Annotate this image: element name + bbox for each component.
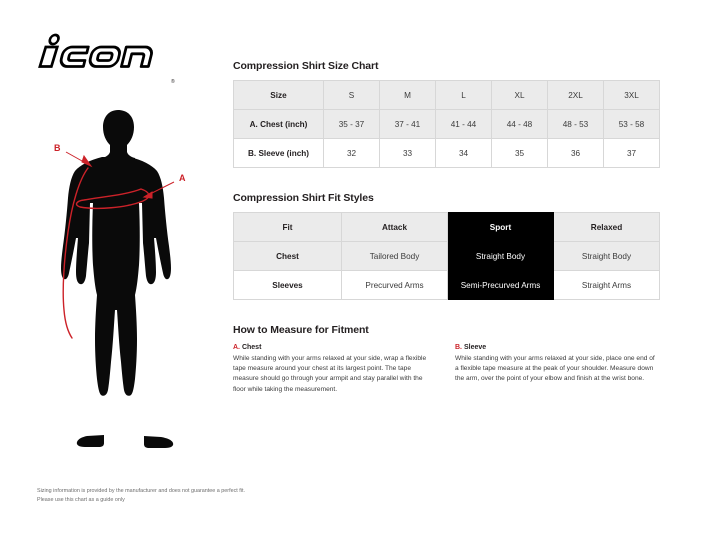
cell-chest-2xl: 48 - 53 xyxy=(548,110,604,139)
cell-sleeve-3xl: 37 xyxy=(604,139,660,168)
measure-sleeve-name: Sleeve xyxy=(464,344,486,351)
column-header-s: S xyxy=(324,81,380,110)
cell-sleeve-l: 34 xyxy=(436,139,492,168)
size-chart-table: Size S M L XL 2XL 3XL A. Chest (inch) 35… xyxy=(233,80,660,168)
cell-chest-xl: 44 - 48 xyxy=(492,110,548,139)
table-row: Sleeves Precurved Arms Semi-Precurved Ar… xyxy=(234,271,660,300)
column-header-relaxed: Relaxed xyxy=(554,213,660,242)
disclaimer-line-2: Please use this chart as a guide only xyxy=(37,496,367,505)
table-header-row: Size S M L XL 2XL 3XL xyxy=(234,81,660,110)
cell-chest-m: 37 - 41 xyxy=(380,110,436,139)
column-header-sport: Sport xyxy=(448,213,554,242)
column-header-m: M xyxy=(380,81,436,110)
disclaimer-line-1: Sizing information is provided by the ma… xyxy=(37,487,367,496)
measure-chest-mark: A. xyxy=(233,344,240,351)
cell-chest-attack: Tailored Body xyxy=(342,242,448,271)
size-chart-title: Compression Shirt Size Chart xyxy=(233,60,659,72)
cell-chest-sport: Straight Body xyxy=(448,242,554,271)
measure-instructions: A. Chest While standing with your arms r… xyxy=(233,344,659,395)
column-header-xl: XL xyxy=(492,81,548,110)
table-row: B. Sleeve (inch) 32 33 34 35 36 37 xyxy=(234,139,660,168)
measure-chest-text: While standing with your arms relaxed at… xyxy=(233,354,437,395)
fit-styles-title: Compression Shirt Fit Styles xyxy=(233,192,659,204)
measure-sleeve-heading: B. Sleeve xyxy=(455,344,659,351)
cell-chest-relaxed: Straight Body xyxy=(554,242,660,271)
cell-sleeves-attack: Precurved Arms xyxy=(342,271,448,300)
measure-chest-heading: A. Chest xyxy=(233,344,437,351)
figure-label-a: A xyxy=(179,173,186,183)
body-measurement-diagram: A B xyxy=(40,100,230,460)
cell-chest-l: 41 - 44 xyxy=(436,110,492,139)
measure-chest-name: Chest xyxy=(242,344,261,351)
measure-item-chest: A. Chest While standing with your arms r… xyxy=(233,344,437,395)
row-header-chest: Chest xyxy=(234,242,342,271)
icon-wordmark-icon xyxy=(30,28,190,72)
column-header-fit: Fit xyxy=(234,213,342,242)
fit-styles-table: Fit Attack Sport Relaxed Chest Tailored … xyxy=(233,212,660,300)
brand-logo: ® xyxy=(30,28,190,72)
column-header-l: L xyxy=(436,81,492,110)
male-silhouette-icon xyxy=(61,110,173,448)
cell-sleeve-xl: 35 xyxy=(492,139,548,168)
cell-sleeve-m: 33 xyxy=(380,139,436,168)
measure-sleeve-text: While standing with your arms relaxed at… xyxy=(455,354,659,385)
column-header-2xl: 2XL xyxy=(548,81,604,110)
how-to-measure-title: How to Measure for Fitment xyxy=(233,324,659,336)
column-header-attack: Attack xyxy=(342,213,448,242)
disclaimer: Sizing information is provided by the ma… xyxy=(37,487,367,506)
cell-sleeves-relaxed: Straight Arms xyxy=(554,271,660,300)
cell-sleeve-s: 32 xyxy=(324,139,380,168)
column-header-3xl: 3XL xyxy=(604,81,660,110)
table-header-row: Fit Attack Sport Relaxed xyxy=(234,213,660,242)
measure-item-sleeve: B. Sleeve While standing with your arms … xyxy=(455,344,659,395)
leader-line-b xyxy=(66,152,91,166)
measure-sleeve-mark: B. xyxy=(455,344,462,351)
content-column: Compression Shirt Size Chart Size S M L … xyxy=(233,60,659,395)
column-header-size: Size xyxy=(234,81,324,110)
cell-sleeve-2xl: 36 xyxy=(548,139,604,168)
row-header-sleeve: B. Sleeve (inch) xyxy=(234,139,324,168)
cell-chest-3xl: 53 - 58 xyxy=(604,110,660,139)
cell-sleeves-sport: Semi-Precurved Arms xyxy=(448,271,554,300)
row-header-sleeves: Sleeves xyxy=(234,271,342,300)
cell-chest-s: 35 - 37 xyxy=(324,110,380,139)
row-header-chest: A. Chest (inch) xyxy=(234,110,324,139)
table-row: Chest Tailored Body Straight Body Straig… xyxy=(234,242,660,271)
figure-label-b: B xyxy=(54,143,61,153)
table-row: A. Chest (inch) 35 - 37 37 - 41 41 - 44 … xyxy=(234,110,660,139)
trademark-symbol: ® xyxy=(171,80,175,85)
